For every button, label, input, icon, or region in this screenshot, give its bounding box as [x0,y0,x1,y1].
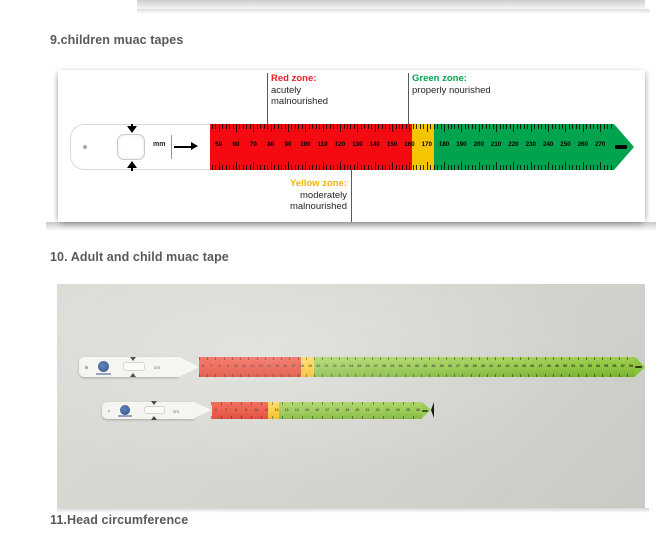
ruler-number-70: 70 [250,141,257,148]
child-tape-tip-marker [422,410,428,412]
ruler-number-250: 250 [560,141,570,148]
ruler-tick [267,165,268,170]
photo-tape-number: 20 [356,408,360,412]
photo-tape-tick [396,374,397,377]
heading-item-11: 11.Head circumference [50,513,188,527]
ruler-tick [226,165,227,170]
diagram-card-shadow [46,222,656,231]
ruler-tick [382,165,383,170]
ruler-tick [233,124,234,129]
ruler-tick [302,165,303,170]
photo-tape-tick [393,402,394,405]
ruler-tick [562,165,563,170]
ruler-tick [305,124,306,132]
photo-tape-tick [281,357,282,360]
photo-tape-tick [627,374,628,377]
ruler-tick [257,124,258,129]
ruler-tick [441,124,442,129]
photo-tape-number: 15 [275,364,279,368]
ruler-tick [545,124,546,129]
ruler-tick [389,165,390,170]
ruler-tick [260,124,261,129]
ruler-tick [541,124,542,129]
photo-tape-tick [403,402,404,405]
adult-tape-red-band [199,357,301,377]
red-zone-line2: malnourished [271,96,328,107]
photo-tape-tick [372,357,373,360]
ruler-number-110: 110 [318,141,328,148]
green-zone-callout: Green zone: properly nourished [412,73,562,96]
photo-tape-tick [602,374,603,377]
ruler-tick [611,165,612,170]
photo-tape-tick [520,374,521,377]
photo-tape-tick [487,357,488,360]
ruler-tick [285,165,286,170]
photo-tape-tick [224,357,225,360]
ruler-tick [326,165,327,170]
photo-tape-number: 33 [423,364,427,368]
ruler-tick [357,124,358,132]
ruler-tick [330,165,331,170]
ruler-tick [593,165,594,170]
photo-tape-tick [578,357,579,360]
ruler-tick [219,162,220,170]
ruler-tick [399,165,400,170]
photo-tape-tick [215,374,216,377]
photo-tape-tick [528,374,529,377]
ruler-tick [534,165,535,170]
heading-item-10: 10. Adult and child muac tape [50,250,229,264]
photo-tape-tick [322,416,323,419]
photo-tape-tick [471,374,472,377]
ruler-number-180: 180 [439,141,449,148]
photo-tape-tick [240,357,241,360]
previous-image-strip [137,0,645,9]
photo-tape-tick [272,416,273,419]
ruler-tick [215,165,216,170]
ruler-tick [579,124,580,129]
ruler-tick [323,124,324,132]
ruler-tick [385,165,386,170]
ruler-tick [565,124,566,132]
photo-tape-tick [471,357,472,360]
ruler-tick [274,165,275,170]
ruler-tick [604,124,605,129]
photo-tape-tick [528,357,529,360]
ruler-tick [298,165,299,170]
ruler-tick [337,124,338,129]
ruler-tick [219,124,220,132]
ruler-tick [246,124,247,129]
red-zone-callout: Red zone: acutely malnourished [271,73,359,108]
photo-tape-tick [503,357,504,360]
ruler-number-120: 120 [335,141,345,148]
ruler-tick [340,124,341,132]
photo-tape-number: 28 [382,364,386,368]
photo-tape-number: 9 [227,364,229,368]
ruler-tick [361,165,362,170]
muac-tape-graphic: mm 5060708090100110120130140150160170180… [70,124,634,170]
ruler-tick [538,124,539,129]
adult-tape-head-taper [179,357,202,377]
ruler-number-210: 210 [491,141,501,148]
photo-tape-tick [211,402,212,405]
photo-tape-tick [302,402,303,405]
photo-tape-tick [421,374,422,377]
ruler-tick [604,165,605,170]
ruler-tick [253,162,254,170]
ruler-tick [350,165,351,170]
ruler-number-140: 140 [370,141,380,148]
adult-tape-tip [635,357,645,377]
ruler-number-60: 60 [233,141,240,148]
ruler-tick [378,124,379,129]
ruler-tick [222,124,223,129]
photo-tape-tick [536,374,537,377]
photo-tape-tick [306,357,307,360]
ruler-tick [222,165,223,170]
ruler-tick [420,165,421,170]
photo-tape-number: 25 [406,408,410,412]
photo-tape-tick [257,374,258,377]
ruler-tick [368,124,369,129]
ruler-tick [212,124,213,129]
ruler-tick [545,165,546,170]
ruler-tick [264,124,265,129]
ruler-tick [534,124,535,129]
ruler-tick [274,124,275,129]
photo-tape-tick [619,357,620,360]
ruler-tick [378,165,379,170]
adult-tape-yellow-band [301,357,314,377]
ruler-tick [454,124,455,129]
photo-tape-tick [396,357,397,360]
ruler-tick [472,165,473,170]
ruler-tick [291,165,292,170]
photo-tape-number: 43 [506,364,510,368]
photo-tape-tick [495,357,496,360]
ruler-tick [413,124,414,129]
photo-tape-number: 23 [386,408,390,412]
yellow-zone-title: Yellow zone: [253,178,347,190]
photo-tape-number: 6 [202,364,204,368]
photo-tape-tick [265,374,266,377]
photo-tape-tick [292,416,293,419]
ruler-tick [385,124,386,129]
ruler-tick [468,124,469,129]
adult-tape-scale: 6789101112131415161718192021222324252627… [79,357,645,377]
ruler-tick [271,124,272,132]
ruler-tick [600,162,601,170]
ruler-tick [350,124,351,129]
photo-tape-number: 14 [267,364,271,368]
photo-tape-tick [364,374,365,377]
photo-tape-number: 41 [489,364,493,368]
photo-tape-tick [240,374,241,377]
ruler-tick [579,165,580,170]
ruler-tick [409,162,410,170]
photo-tape-tick [438,357,439,360]
photo-tape-tick [302,416,303,419]
photo-tape-number: 35 [440,364,444,368]
ruler-tick [337,165,338,170]
ruler-tick [357,162,358,170]
ruler-tick [451,124,452,129]
photo-tape-tick [462,357,463,360]
ruler-tick [520,165,521,170]
ruler-number-190: 190 [456,141,466,148]
ruler-tick [309,165,310,170]
photo-tape-tick [594,357,595,360]
photo-tape-number: 51 [571,364,575,368]
ruler-tick [316,124,317,129]
photo-tape-number: 57 [621,364,625,368]
ruler-tick [489,165,490,170]
child-tape: cm 6789101112131415161718192021222324252… [102,402,432,419]
ruler-number-270: 270 [595,141,605,148]
photo-tape-tick [495,374,496,377]
ruler-tick [569,165,570,170]
photo-tape-tick [429,357,430,360]
yellow-zone-line1: moderately [300,190,347,201]
ruler-tick [281,165,282,170]
photo-tape-number: 8 [235,408,237,412]
ruler-tick [461,162,462,170]
who-logo-child [120,405,130,415]
ruler-tick [517,124,518,129]
ruler-tick [354,124,355,129]
ruler-tick [444,124,445,132]
ruler-tick [611,124,612,129]
ruler-number-150: 150 [387,141,397,148]
photo-tape-tick [429,374,430,377]
ruler-tick [548,162,549,170]
photo-tape-tick [282,416,283,419]
photo-tape-number: 14 [295,408,299,412]
ruler-tick [482,124,483,129]
photo-tape-tick [454,374,455,377]
photo-tape-tick [265,357,266,360]
photo-tape-tick [536,357,537,360]
ruler-tick [233,165,234,170]
ruler-number-80: 80 [267,141,274,148]
ruler-tick [291,124,292,129]
previous-image-shadow [137,9,650,14]
ruler-tick [555,165,556,170]
child-tape-yellow-band [268,402,279,419]
ruler-tick [513,162,514,170]
photo-tape-tick [241,402,242,405]
photo-tape-tick [362,402,363,405]
photo-tape-number: 24 [349,364,353,368]
ruler-tick [326,124,327,129]
child-tape-green-band [279,402,422,419]
photo-tape-number: 6 [215,408,217,412]
ruler-tick [423,124,424,129]
ruler-tick [607,124,608,129]
ruler-tick [468,165,469,170]
photo-tape-tick [347,357,348,360]
ruler-tick [260,165,261,170]
photo-tape-tick [610,374,611,377]
photo-tape-number: 7 [225,408,227,412]
photo-tape-number: 12 [250,364,254,368]
ruler-tick [271,162,272,170]
ruler-tick [285,124,286,129]
ruler-tick [500,124,501,129]
ruler-tick [278,165,279,170]
ruler-tick [531,124,532,132]
photo-tape-number: 22 [376,408,380,412]
ruler-tick [427,162,428,170]
ruler-tick [538,165,539,170]
ruler-tick [392,162,393,170]
photo-tape-number: 13 [285,408,289,412]
adult-tape-head [79,357,179,377]
ruler-tick [506,124,507,129]
ruler-tick [347,124,348,129]
ruler-tick [448,165,449,170]
red-zone-line1: acutely [271,85,301,96]
photo-tape-tick [479,374,480,377]
unit-reference-bar [171,135,172,159]
ruler-tick [295,124,296,129]
ruler-tick [479,162,480,170]
photo-tape-number: 42 [497,364,501,368]
photo-tape-tick [257,357,258,360]
ruler-tick [319,124,320,129]
photo-tape-number: 13 [259,364,263,368]
ruler-tick [513,124,514,132]
ruler-tick [278,124,279,129]
photo-tape-tick [355,374,356,377]
photo-tape-number: 17 [292,364,296,368]
photo-tape-number: 11 [265,408,269,412]
ruler-tick [239,165,240,170]
photo-tape-tick [403,416,404,419]
photo-tape-tick [362,416,363,419]
ruler-tick [562,124,563,129]
photo-tape-tick [332,402,333,405]
who-logo-caption-child [118,415,132,417]
photo-tape-tick [322,357,323,360]
ruler-tick [493,124,494,129]
photo-tape-number: 45 [522,364,526,368]
ruler-tick [527,165,528,170]
ruler-tick [600,124,601,132]
yellow-zone-callout: Yellow zone: moderately malnourished [253,178,347,213]
photo-tape-number: 44 [514,364,518,368]
photo-tape-tick [322,374,323,377]
photo-tape-number: 19 [308,364,312,368]
page-root: 9.children muac tapes Red zone: acutely … [0,0,661,533]
photo-tape-tick [446,357,447,360]
photo-tape-tick [261,402,262,405]
ruler-tick [382,124,383,129]
ruler-tick [597,165,598,170]
ruler-tick [344,124,345,129]
ruler-tick [586,124,587,129]
photo-tape-number: 40 [481,364,485,368]
photo-tape-tick [199,374,200,377]
child-tape-head-taper [194,402,215,418]
photo-tape-tick [207,374,208,377]
photo-tape-number: 36 [448,364,452,368]
ruler-tick [302,124,303,129]
ruler-tick [489,124,490,129]
photo-tape-tick [586,374,587,377]
ruler-tick [475,124,476,129]
ruler-tick [576,165,577,170]
photo-tape-tick [380,357,381,360]
photo-tape-number: 39 [473,364,477,368]
ruler-tick [364,165,365,170]
ruler-tick [288,124,289,132]
photo-tape-number: 10 [234,364,238,368]
ruler-tick [548,124,549,132]
photo-tape-number: 29 [390,364,394,368]
ruler-number-130: 130 [352,141,362,148]
adult-tape: cm 6789101112131415161718192021222324252… [79,357,645,377]
photo-tape-number: 25 [357,364,361,368]
ruler-tick [392,124,393,132]
photo-tape-tick [241,416,242,419]
photo-tape-tick [454,357,455,360]
child-tape-unit-label: cm [173,409,179,414]
photo-tape-number: 30 [399,364,403,368]
ruler-tick [250,124,251,129]
ruler-number-260: 260 [578,141,588,148]
photo-tape-tick [479,357,480,360]
photo-tape-number: 23 [341,364,345,368]
photo-tape-tick [545,374,546,377]
right-arrow-icon [191,142,198,150]
ruler-number-160: 160 [404,141,414,148]
photo-tape-tick [512,357,513,360]
direction-arrow-shaft [174,146,192,148]
ruler-tick [496,124,497,132]
ruler-tick [257,165,258,170]
ruler-tick [246,165,247,170]
ruler-tick [503,124,504,129]
photo-tape-number: 11 [242,364,246,368]
photo-tape-tick [512,374,513,377]
photo-tape-tick [421,357,422,360]
photo-tape-tick [251,402,252,405]
ruler-tick [458,124,459,129]
photo-tape-tick [561,357,562,360]
ruler-tick [437,124,438,129]
ruler-tick [368,165,369,170]
photo-tape-tick [610,357,611,360]
photo-tape-number: 26 [416,408,420,412]
photo-tape-number: 38 [464,364,468,368]
photo-tape-tick [314,357,315,360]
ruler-tick [541,165,542,170]
ruler-tick [319,165,320,170]
ruler-tick [552,165,553,170]
child-tape-hole-icon [108,410,110,412]
photo-tape-tick [405,357,406,360]
ruler-tick [486,165,487,170]
ruler-tick [371,124,372,129]
ruler-tick [250,165,251,170]
ruler-tick [309,124,310,129]
photo-tape-tick [383,416,384,419]
photo-tape-number: 19 [345,408,349,412]
ruler-tick [527,124,528,129]
photo-tape-tick [545,357,546,360]
